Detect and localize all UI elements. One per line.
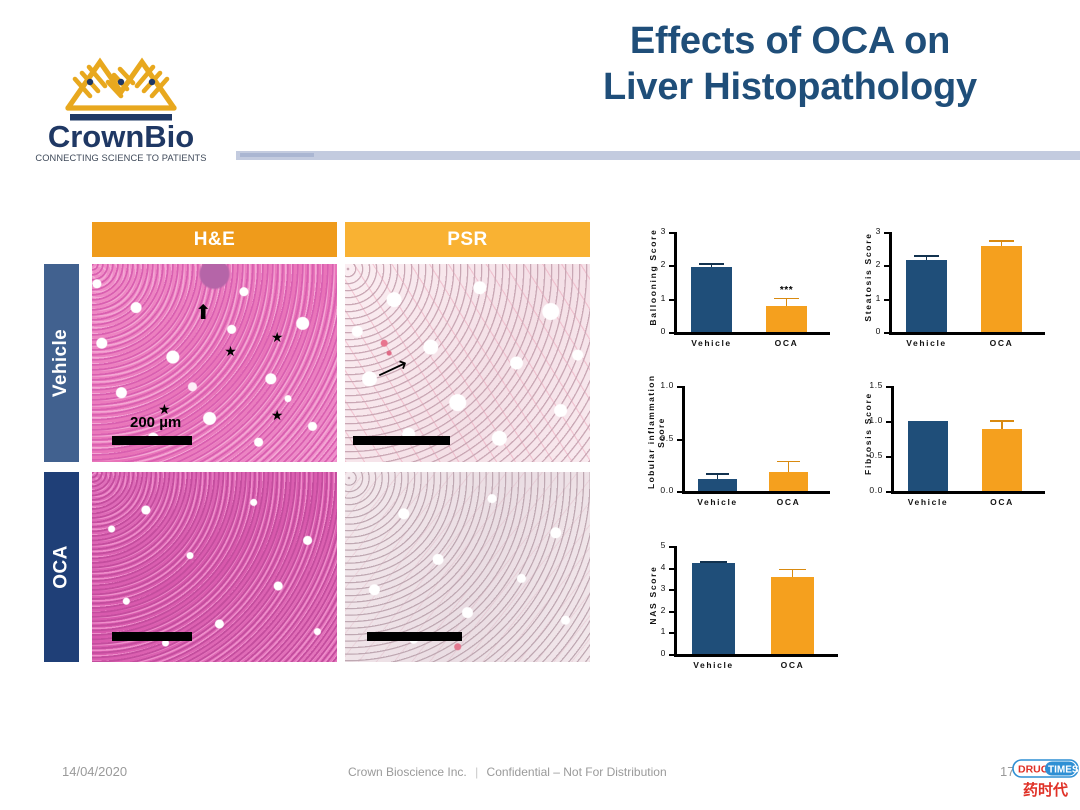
bar-lobular-inflammation-oca <box>769 472 808 491</box>
plot-area: 0123VehicleOCA*** <box>674 232 824 332</box>
bar-ballooning-vehicle <box>691 267 732 332</box>
y-tick <box>886 456 891 458</box>
error-bar-cap <box>700 561 726 563</box>
y-axis-label: Lobular inflammationScore <box>646 376 666 489</box>
bar-nas-vehicle <box>692 563 735 654</box>
y-tick <box>669 332 674 334</box>
plot-area: 0.00.51.0VehicleOCA <box>682 386 824 491</box>
x-tick-label-vehicle: Vehicle <box>672 338 752 348</box>
scale-bar <box>353 436 450 445</box>
x-tick-label-oca: OCA <box>962 497 1042 507</box>
y-tick <box>886 491 891 493</box>
y-tick <box>884 332 889 334</box>
y-tick <box>669 265 674 267</box>
arrow-diagonal-annotation: ⟶ <box>374 353 412 386</box>
x-axis <box>674 654 838 657</box>
error-bar-cap <box>779 569 805 571</box>
row-label-vehicle: Vehicle <box>44 264 79 462</box>
significance-marker: *** <box>772 285 802 296</box>
x-tick-label-oca: OCA <box>962 338 1042 348</box>
y-tick <box>669 589 674 591</box>
scale-bar <box>112 436 192 445</box>
error-bar-cap <box>774 298 799 300</box>
y-axis <box>891 386 894 493</box>
micrograph-vehicle-psr: ⟶ <box>345 264 590 462</box>
y-tick <box>677 491 682 493</box>
footer-separator: | <box>475 765 478 779</box>
histology-panel: H&E PSR Vehicle OCA ⬆ ★ ★ ★ ★ 200 µm ⟶ <box>40 222 596 662</box>
y-tick <box>886 421 891 423</box>
title-divider-accent <box>240 153 314 157</box>
y-tick <box>884 265 889 267</box>
bar-steatosis-vehicle <box>906 260 947 332</box>
micrograph-oca-psr <box>345 472 590 662</box>
footer-confidential: Crown Bioscience Inc. | Confidential – N… <box>348 765 667 779</box>
y-tick <box>669 299 674 301</box>
y-tick <box>669 654 674 656</box>
x-tick-label-oca: OCA <box>753 660 833 670</box>
chart-ballooning: 0123VehicleOCA***Ballooning Score <box>636 222 836 362</box>
x-axis <box>674 332 830 335</box>
star-annotation: ★ <box>271 409 284 423</box>
y-tick <box>677 386 682 388</box>
chart-lobular-inflammation: 0.00.51.0VehicleOCALobular inflammationS… <box>636 376 836 516</box>
column-header-psr: PSR <box>345 222 590 257</box>
page-title-line1: Effects of OCA on <box>520 18 1060 64</box>
error-bar-cap <box>706 473 729 475</box>
footer-confidential-text: Confidential – Not For Distribution <box>487 765 667 779</box>
x-axis <box>889 332 1045 335</box>
error-bar-cap <box>699 263 724 265</box>
y-axis <box>889 232 892 334</box>
plot-area: 0.00.51.01.5VehicleOCA <box>891 386 1039 491</box>
bar-lobular-inflammation-vehicle <box>698 479 737 491</box>
x-tick-label-vehicle: Vehicle <box>678 497 758 507</box>
y-tick <box>669 611 674 613</box>
y-axis <box>674 232 677 334</box>
row-label-vehicle-text: Vehicle <box>51 329 73 397</box>
crownbio-logo: CrownBio CONNECTING SCIENCE TO PATIENTS <box>28 30 214 165</box>
plot-area: 0123VehicleOCA <box>889 232 1039 332</box>
arrow-up-annotation: ⬆ <box>195 302 212 322</box>
star-annotation: ★ <box>224 345 237 359</box>
y-tick <box>884 299 889 301</box>
error-bar-cap <box>777 461 800 463</box>
y-tick <box>669 546 674 548</box>
y-tick <box>886 386 891 388</box>
bar-nas-oca <box>771 577 814 654</box>
bar-ballooning-oca <box>766 306 807 332</box>
error-bar-cap <box>989 240 1014 242</box>
y-axis-label: Steatosis Score <box>863 224 873 330</box>
watermark-times: TIMES <box>1048 764 1079 775</box>
scale-bar <box>367 632 462 641</box>
x-tick-label-oca: OCA <box>749 497 829 507</box>
y-axis-label: Fibrosis Score <box>863 378 873 489</box>
footer-divider <box>0 752 1080 753</box>
column-header-psr-label: PSR <box>447 229 488 251</box>
chart-nas: 012345VehicleOCANAS Score <box>636 536 846 681</box>
y-axis <box>682 386 685 493</box>
y-tick <box>669 568 674 570</box>
micrograph-oca-he <box>92 472 337 662</box>
crownbio-logo-svg: CrownBio CONNECTING SCIENCE TO PATIENTS <box>28 30 214 165</box>
page-title-line2: Liver Histopathology <box>520 64 1060 110</box>
logo-wordmark: CrownBio <box>48 119 194 154</box>
row-label-oca-text: OCA <box>51 545 73 588</box>
y-axis <box>674 546 677 656</box>
bar-steatosis-oca <box>981 246 1022 332</box>
chart-steatosis: 0123VehicleOCASteatosis Score <box>851 222 1051 362</box>
footer-date: 14/04/2020 <box>62 764 127 779</box>
x-axis <box>891 491 1045 494</box>
y-tick <box>884 232 889 234</box>
logo-tagline: CONNECTING SCIENCE TO PATIENTS <box>35 153 206 163</box>
x-tick-label-vehicle: Vehicle <box>888 497 968 507</box>
error-bar-cap <box>914 255 939 257</box>
bar-fibrosis-vehicle <box>908 421 949 491</box>
page-title: Effects of OCA on Liver Histopathology <box>520 18 1060 111</box>
title-divider <box>236 151 1080 160</box>
footer-company: Crown Bioscience Inc. <box>348 765 467 779</box>
y-axis-label: NAS Score <box>648 538 658 652</box>
bar-fibrosis-oca <box>982 429 1023 491</box>
scale-bar <box>112 632 192 641</box>
error-bar-cap <box>990 420 1014 422</box>
row-label-oca: OCA <box>44 472 79 662</box>
x-tick-label-vehicle: Vehicle <box>887 338 967 348</box>
column-header-he: H&E <box>92 222 337 257</box>
y-tick <box>669 232 674 234</box>
star-annotation: ★ <box>271 331 284 345</box>
y-axis-label: Ballooning Score <box>648 224 658 330</box>
micrograph-vehicle-he: ⬆ ★ ★ ★ ★ 200 µm <box>92 264 337 462</box>
drugtimes-watermark: DRUG TIMES 药时代 <box>1011 757 1080 803</box>
x-axis <box>682 491 830 494</box>
x-tick-label-oca: OCA <box>747 338 827 348</box>
watermark-chinese: 药时代 <box>1023 781 1068 799</box>
scale-bar-label: 200 µm <box>130 414 181 431</box>
x-tick-label-vehicle: Vehicle <box>674 660 754 670</box>
y-tick <box>669 632 674 634</box>
drugtimes-watermark-svg: DRUG TIMES 药时代 <box>1011 757 1080 803</box>
y-tick <box>677 439 682 441</box>
column-header-he-label: H&E <box>194 229 236 251</box>
plot-area: 012345VehicleOCA <box>674 546 832 654</box>
watermark-drug: DRUG <box>1018 764 1049 776</box>
chart-fibrosis: 0.00.51.01.5VehicleOCAFibrosis Score <box>851 376 1051 516</box>
